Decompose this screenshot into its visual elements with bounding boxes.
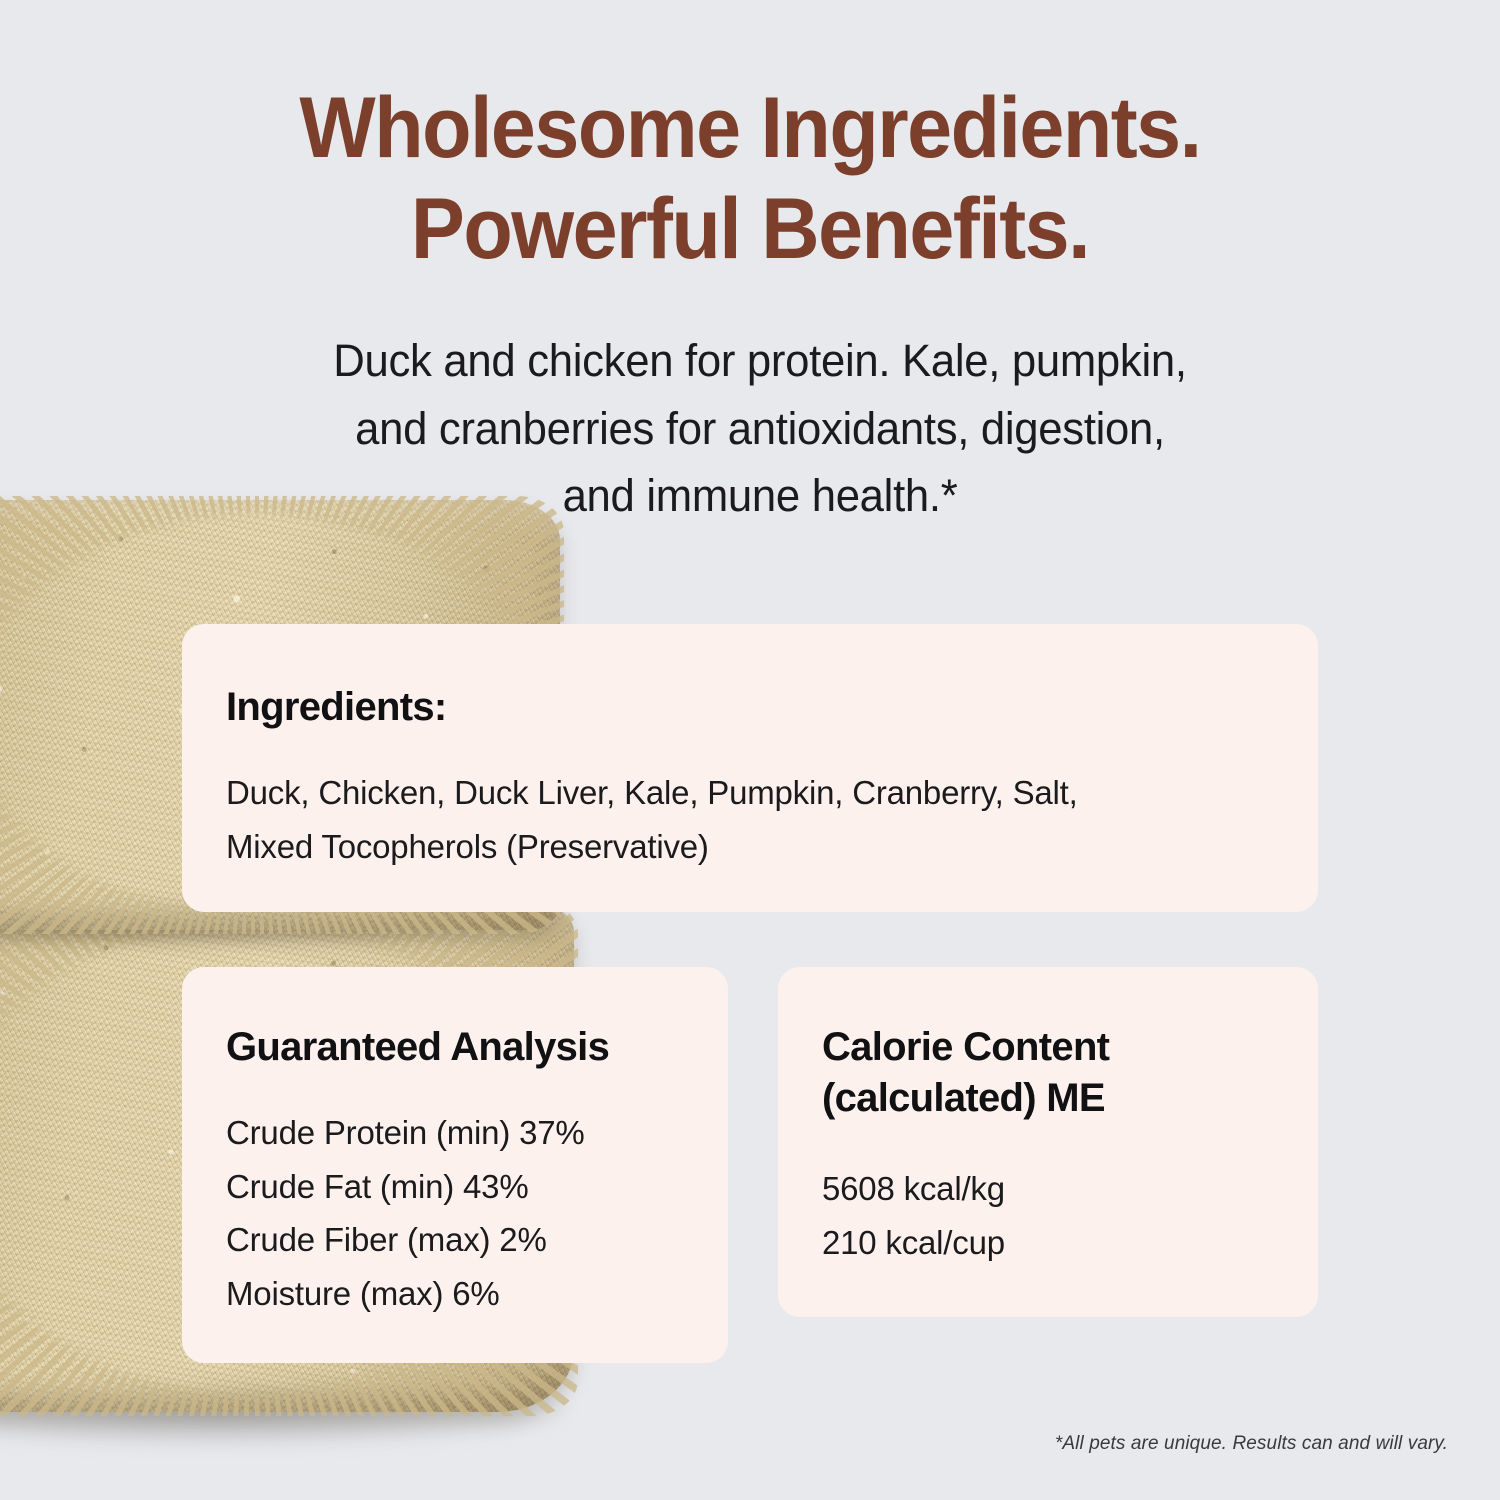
subheadline-line-2: and cranberries for antioxidants, digest… — [188, 395, 1333, 463]
guaranteed-analysis-card-title: Guaranteed Analysis — [226, 1022, 684, 1073]
calorie-title-line-1: Calorie Content — [822, 1025, 1109, 1069]
calorie-title-line-2: (calculated) ME — [822, 1076, 1105, 1120]
guaranteed-analysis-list: Crude Protein (min) 37% Crude Fat (min) … — [226, 1106, 684, 1320]
list-item: Moisture (max) 6% — [226, 1267, 684, 1320]
list-item: 210 kcal/cup — [822, 1216, 1274, 1269]
ingredients-card-title: Ingredients: — [226, 682, 1274, 733]
product-ground-shadow — [0, 1378, 570, 1448]
list-item: Crude Fat (min) 43% — [226, 1160, 684, 1213]
disclaimer-footnote: *All pets are unique. Results can and wi… — [1055, 1433, 1448, 1455]
ingredients-line-2: Mixed Tocopherols (Preservative) — [226, 820, 1274, 873]
list-item: Crude Protein (min) 37% — [226, 1106, 684, 1159]
ingredients-card-body: Duck, Chicken, Duck Liver, Kale, Pumpkin… — [226, 766, 1274, 873]
headline-line-1: Wholesome Ingredients. — [45, 78, 1455, 179]
page-subheadline: Duck and chicken for protein. Kale, pump… — [188, 327, 1333, 530]
page-headline: Wholesome Ingredients. Powerful Benefits… — [45, 78, 1455, 281]
subheadline-line-1: Duck and chicken for protein. Kale, pump… — [188, 327, 1333, 395]
ingredients-card: Ingredients: Duck, Chicken, Duck Liver, … — [182, 624, 1318, 912]
guaranteed-analysis-card: Guaranteed Analysis Crude Protein (min) … — [182, 967, 728, 1363]
ingredients-line-1: Duck, Chicken, Duck Liver, Kale, Pumpkin… — [226, 766, 1274, 819]
calorie-content-card-title: Calorie Content (calculated) ME — [822, 1022, 1274, 1124]
list-item: 5608 kcal/kg — [822, 1162, 1274, 1215]
headline-line-2: Powerful Benefits. — [45, 179, 1455, 280]
calorie-content-card: Calorie Content (calculated) ME 5608 kca… — [778, 967, 1318, 1317]
list-item: Crude Fiber (max) 2% — [226, 1213, 684, 1266]
calorie-content-list: 5608 kcal/kg 210 kcal/cup — [822, 1162, 1274, 1269]
subheadline-line-3: and immune health.* — [188, 462, 1333, 530]
